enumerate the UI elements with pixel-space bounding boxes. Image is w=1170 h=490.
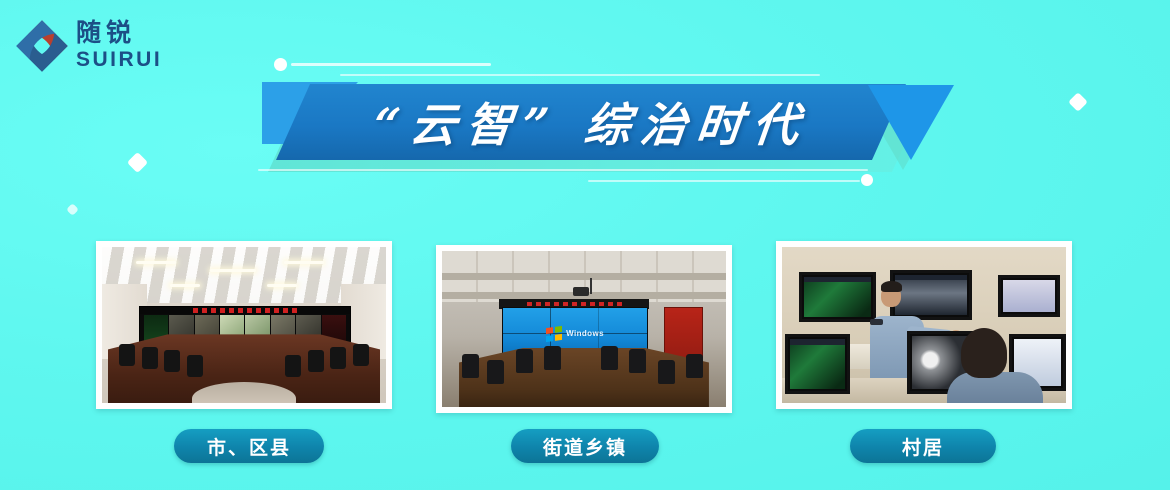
photo-village-monitoring-station: [782, 247, 1066, 403]
photo1-ceiling-light: [210, 269, 256, 272]
photo3-officer-hair: [881, 281, 902, 292]
page-title: “云智” 综治时代: [370, 89, 812, 155]
photo1-chair: [164, 350, 180, 372]
slide-canvas: 随锐 SUIRUI “云智” 综治时代: [0, 0, 1170, 490]
windows-logo-icon: [546, 326, 562, 342]
photo1-ceiling-light: [284, 261, 324, 264]
card-village[interactable]: [776, 241, 1072, 409]
photo2-chair: [658, 360, 675, 384]
photo2-beam: [442, 273, 726, 280]
title-banner: “云智” 综治时代: [258, 54, 958, 194]
photo1-chair: [330, 347, 346, 369]
decor-dot-bottom-right: [861, 174, 873, 186]
decor-line-bottom-2: [588, 180, 860, 182]
card-street-township[interactable]: Windows: [436, 245, 732, 413]
photo1-ceiling-light: [267, 284, 297, 287]
card-label-street-township[interactable]: 街道乡镇: [511, 429, 659, 463]
photo2-chair: [629, 349, 646, 373]
photo3-monitor-screen: [790, 339, 845, 388]
card-label-city-district[interactable]: 市、区县: [174, 429, 324, 463]
photo2-projector: [573, 287, 589, 296]
photo3-viewer-head: [961, 328, 1007, 378]
photo3-officer-epaulet: [870, 319, 883, 325]
decor-diamond-lower-left: [66, 203, 79, 216]
decor-diamond-left: [127, 152, 148, 173]
photo1-chair: [285, 355, 301, 377]
photo3-desk-monitor: [785, 334, 850, 393]
decor-line-bottom-1: [258, 169, 868, 171]
photo1-chair: [187, 355, 203, 377]
photo3-wall-monitor: [890, 270, 972, 320]
photo2-chair: [686, 354, 703, 378]
photo1-table-center: [192, 382, 296, 403]
photo3-wall-monitor: [998, 275, 1060, 317]
card-label-village[interactable]: 村居: [850, 429, 996, 463]
brand-name-en: SUIRUI: [76, 48, 174, 72]
photo2-chair: [544, 346, 561, 370]
photo-township-meeting-room: Windows: [442, 251, 726, 407]
photo2-chair: [487, 360, 504, 384]
photo2-screen-caption: Windows: [566, 329, 604, 338]
photo3-monitor-screen: [1003, 280, 1055, 312]
photo3-monitor-screen: [895, 275, 967, 315]
photo1-ceiling-light: [136, 261, 176, 264]
photo3-wall-monitor: [799, 272, 876, 322]
photo3-monitor-screen: [804, 277, 871, 317]
suirui-pinwheel-icon: [14, 18, 70, 74]
photo2-projector-arm: [590, 278, 592, 294]
photo-command-conference-room: [102, 247, 386, 403]
photo2-chair: [601, 346, 618, 370]
card-city-district[interactable]: [96, 241, 392, 409]
photo1-chair: [119, 344, 135, 366]
decor-line-top-2: [340, 74, 820, 76]
decor-line-top-1: [291, 63, 491, 66]
photo1-chair: [308, 350, 324, 372]
brand-wordmark: 随锐 SUIRUI: [76, 18, 174, 72]
decor-diamond-right: [1068, 92, 1088, 112]
brand-logo: 随锐 SUIRUI: [14, 16, 174, 78]
banner-body: “云智” 综治时代: [276, 84, 906, 160]
photo1-ceiling-light: [170, 284, 200, 287]
decor-dot-top-left: [274, 58, 287, 71]
photo1-led-ticker: [140, 307, 350, 314]
photo1-chair: [142, 347, 158, 369]
photo1-chair: [353, 344, 369, 366]
photo2-chair: [516, 349, 533, 373]
photo2-chair: [462, 354, 479, 378]
brand-name-cn: 随锐: [76, 18, 174, 48]
